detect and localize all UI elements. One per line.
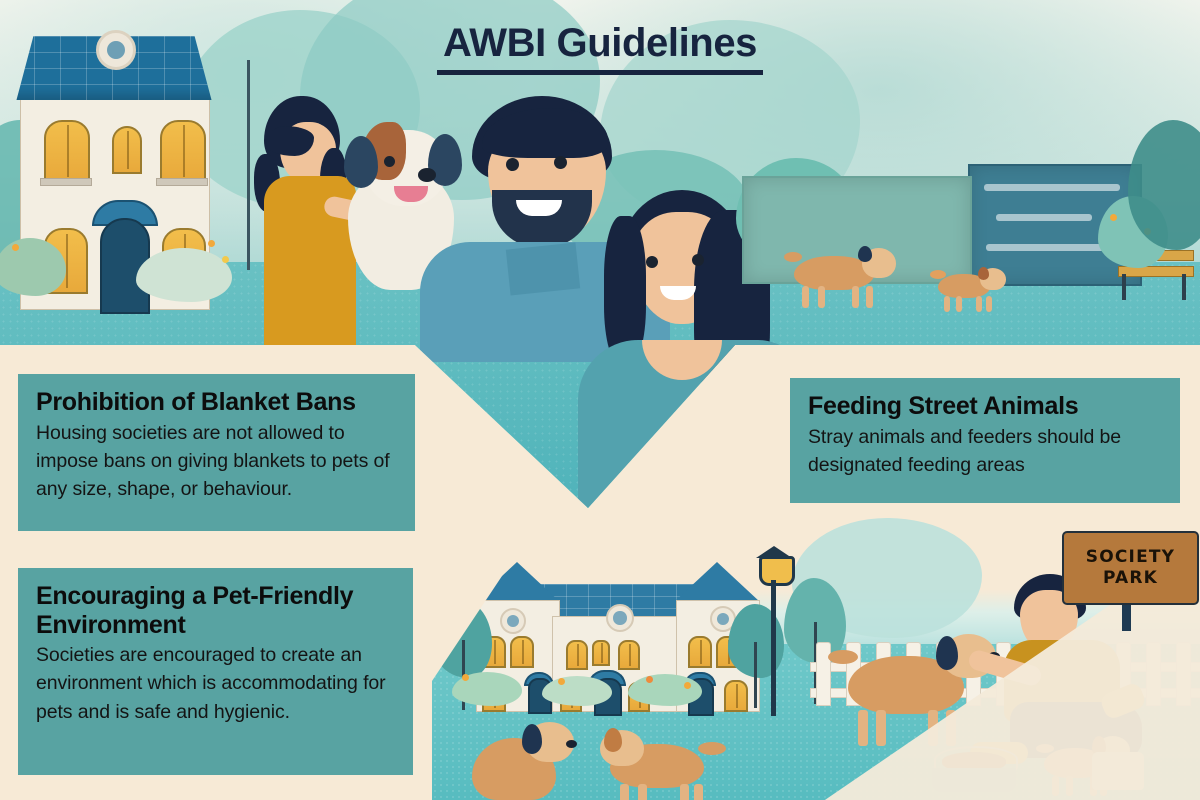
flower — [684, 682, 691, 689]
card-encouraging-a-pet-friendly-environment: Encouraging a Pet-Friendly Environment S… — [18, 568, 413, 775]
street-dog-large — [786, 248, 898, 308]
card-body: Housing societies are not allowed to imp… — [36, 419, 397, 504]
page-title-text: AWBI Guidelines — [437, 22, 763, 75]
card-body: Stray animals and feeders should be desi… — [808, 423, 1162, 480]
street-dog-small — [932, 268, 1008, 312]
sign-board: SOCIETY PARK — [1062, 531, 1199, 605]
shrub — [136, 248, 232, 302]
flower — [208, 240, 215, 247]
card-heading: Feeding Street Animals — [808, 392, 1162, 421]
society-building — [466, 560, 766, 690]
flower — [462, 674, 469, 681]
sign-line-2: PARK — [1103, 568, 1158, 589]
sign-line-1: SOCIETY — [1086, 547, 1175, 568]
shrub — [542, 676, 612, 706]
flower — [1110, 214, 1117, 221]
flower — [222, 256, 229, 263]
flower — [646, 676, 653, 683]
card-heading: Encouraging a Pet-Friendly Environment — [36, 582, 395, 639]
shrub — [628, 674, 702, 706]
card-feeding-street-animals: Feeding Street Animals Stray animals and… — [790, 378, 1180, 503]
page-title: AWBI Guidelines — [0, 22, 1200, 75]
flower — [558, 678, 565, 685]
flower — [12, 244, 19, 251]
infographic-canvas: AWBI Guidelines — [0, 0, 1200, 800]
card-heading: Prohibition of Blanket Bans — [36, 388, 397, 417]
standing-dog — [602, 728, 732, 800]
society-park-sign: SOCIETY PARK — [1062, 531, 1195, 605]
sitting-dog — [468, 722, 588, 800]
tree — [246, 60, 252, 270]
lamp-post — [754, 546, 794, 716]
card-body: Societies are encouraged to create an en… — [36, 641, 395, 726]
card-prohibition-of-blanket-bans: Prohibition of Blanket Bans Housing soci… — [18, 374, 415, 531]
